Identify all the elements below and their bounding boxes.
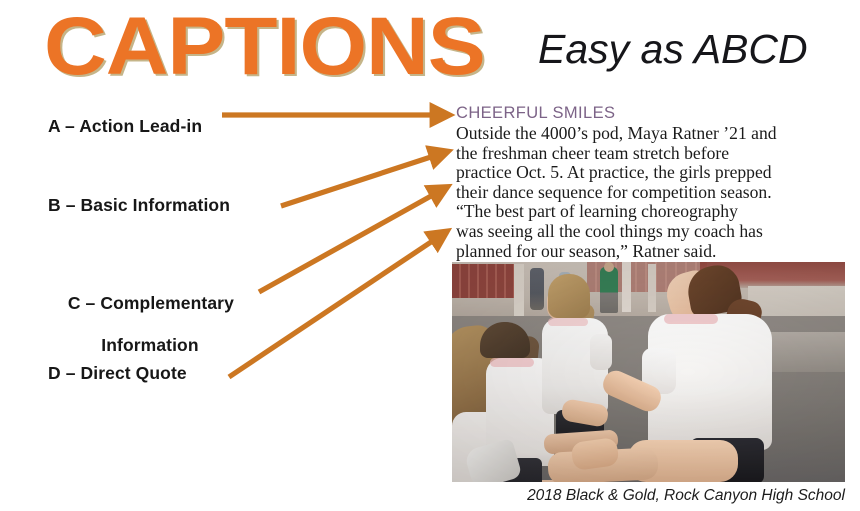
legend-item-c-line1: C – Complementary (68, 293, 234, 313)
caption-line: their dance sequence for competition sea… (456, 183, 848, 203)
caption-body: Outside the 4000’s pod, Maya Ratner ’21 … (456, 124, 848, 261)
legend-item-d: D – Direct Quote (48, 363, 187, 384)
legend-item-a: A – Action Lead-in (48, 116, 202, 137)
caption-line: planned for our season,” Ratner said. (456, 242, 848, 262)
caption-line: was seeing all the cool things my coach … (456, 222, 848, 242)
caption-block: CHEERFUL SMILES Outside the 4000’s pod, … (456, 103, 848, 276)
caption-line: practice Oct. 5. At practice, the girls … (456, 163, 848, 183)
photo-tone-overlay (452, 262, 845, 482)
caption-kicker: CHEERFUL SMILES (456, 103, 848, 123)
header: CAPTIONS Easy as ABCD (0, 0, 860, 96)
page-title: CAPTIONS (44, 1, 485, 93)
caption-infographic: CAPTIONS Easy as ABCD A – Action Lead-in… (0, 0, 860, 511)
arrow-b-line (281, 154, 440, 206)
source-credit: 2018 Black & Gold, Rock Canyon High Scho… (0, 486, 845, 505)
legend-item-b: B – Basic Information (48, 195, 230, 216)
caption-line: the freshman cheer team stretch before (456, 144, 848, 164)
arrow-d-line (229, 236, 440, 377)
page-subtitle: Easy as ABCD (538, 24, 808, 74)
cheer-team-photo (452, 262, 845, 482)
caption-line: “The best part of learning choreography (456, 202, 848, 222)
arrow-c-line (259, 191, 440, 292)
caption-line: Outside the 4000’s pod, Maya Ratner ’21 … (456, 124, 848, 144)
legend-item-c-line2: Information (48, 335, 234, 356)
